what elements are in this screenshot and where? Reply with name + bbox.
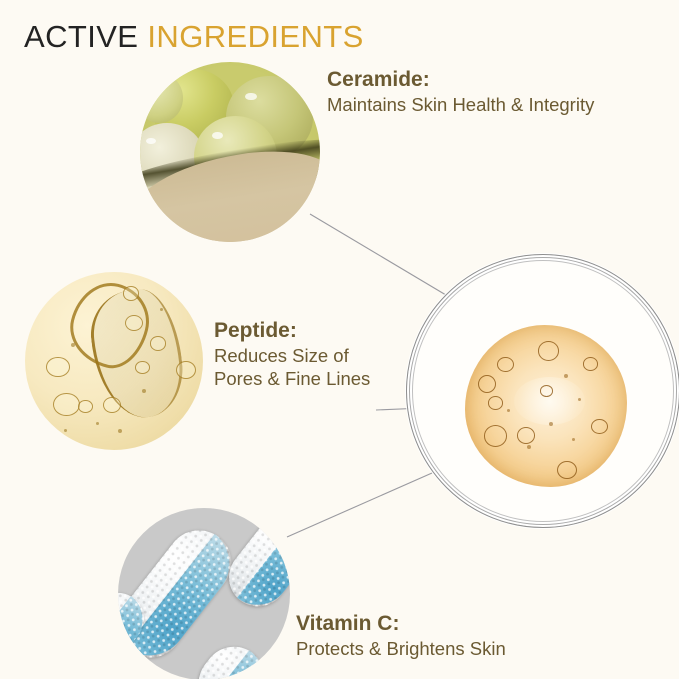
peptide-dot [118, 429, 122, 433]
droplet-bubble [488, 396, 503, 409]
peptide-bubble [150, 336, 166, 350]
ceramide-bubbles-photo [140, 62, 320, 242]
peptide-bubble [103, 397, 121, 413]
droplet-dot [507, 409, 510, 412]
peptide-heading: Peptide: [214, 318, 370, 344]
ceramide-heading: Ceramide: [327, 67, 594, 93]
droplet-bubble [538, 341, 559, 361]
peptide-description-line-1: Reduces Size of [214, 344, 370, 367]
droplet-dot [572, 438, 575, 441]
page-title: ACTIVE INGREDIENTS [24, 21, 364, 52]
peptide-bubble [176, 361, 196, 379]
droplet-bubble [540, 385, 553, 397]
peptide-serum-photo [25, 272, 203, 450]
peptide-bubble [78, 400, 92, 413]
droplet-dot [564, 374, 568, 378]
droplet-bubble [484, 425, 507, 446]
label-vitamin-c: Vitamin C: Protects & Brightens Skin [296, 611, 506, 660]
peptide-dot [160, 308, 163, 311]
peptide-dot [71, 343, 75, 347]
serum-droplet [465, 325, 627, 487]
droplet-bubble [497, 357, 514, 372]
peptide-bubble [53, 393, 80, 416]
peptide-description-line-2: Pores & Fine Lines [214, 367, 370, 390]
title-part-active: ACTIVE [24, 19, 138, 54]
label-peptide: Peptide: Reduces Size of Pores & Fine Li… [214, 318, 370, 390]
title-part-ingredients: INGREDIENTS [147, 19, 363, 54]
droplet-bubble [583, 357, 598, 370]
ceramide-description-line-1: Maintains Skin Health & Integrity [327, 93, 594, 116]
droplet-dot [549, 422, 553, 426]
peptide-bubble [135, 361, 149, 374]
droplet-bubble [478, 375, 496, 393]
droplet-bubble [517, 427, 535, 444]
peptide-bubble [123, 286, 139, 300]
active-ingredients-infographic: ACTIVE INGREDIENTS [0, 0, 679, 679]
peptide-dot [64, 429, 67, 432]
droplet-bubble [591, 419, 608, 434]
peptide-dot [96, 422, 99, 425]
peptide-bubble [46, 357, 69, 377]
vitamin-c-description-line-1: Protects & Brightens Skin [296, 637, 506, 660]
label-ceramide: Ceramide: Maintains Skin Health & Integr… [327, 67, 594, 116]
droplet-dot [527, 445, 531, 449]
connector-ceramide [310, 214, 456, 301]
connector-vitamin-c [287, 473, 432, 537]
droplet-bubble [557, 461, 577, 479]
droplet-highlight [514, 377, 585, 426]
capsule [186, 634, 277, 679]
vitamin-c-capsules-photo [118, 508, 290, 679]
peptide-bubble [125, 315, 143, 331]
vitamin-c-heading: Vitamin C: [296, 611, 506, 637]
